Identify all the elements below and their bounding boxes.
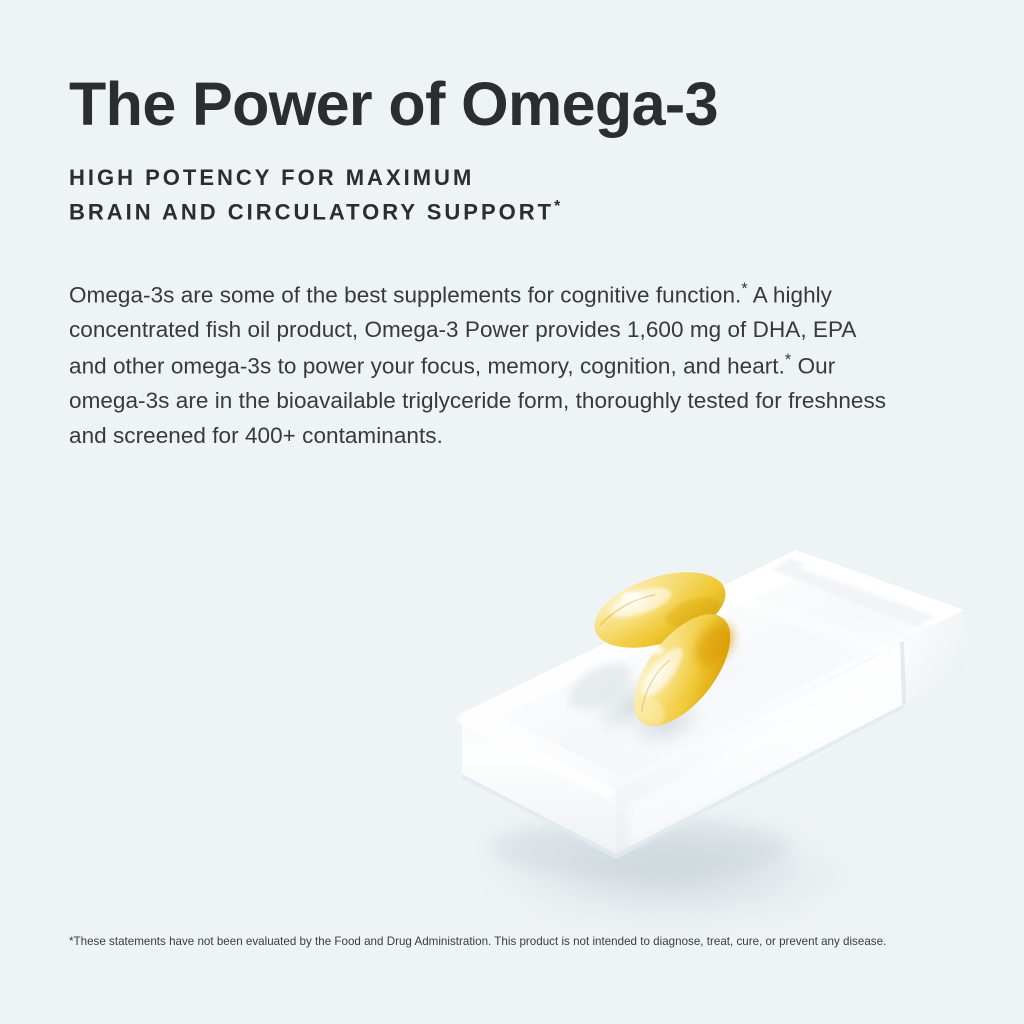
page-title: The Power of Omega-3 bbox=[69, 72, 949, 137]
acrylic-block-illustration bbox=[404, 518, 1004, 938]
subtitle: HIGH POTENCY FOR MAXIMUM BRAIN AND CIRCU… bbox=[69, 161, 949, 230]
capsule-2-specular-dot bbox=[648, 646, 664, 654]
product-info-panel: The Power of Omega-3 HIGH POTENCY FOR MA… bbox=[0, 0, 1024, 1024]
subtitle-asterisk: * bbox=[554, 198, 560, 215]
capsule-1-specular-dot bbox=[622, 592, 642, 600]
subtitle-line-1: HIGH POTENCY FOR MAXIMUM bbox=[69, 161, 949, 195]
subtitle-line-2: BRAIN AND CIRCULATORY SUPPORT* bbox=[69, 195, 949, 229]
body-text-part-1: Omega-3s are some of the best supplement… bbox=[69, 283, 741, 308]
product-image bbox=[404, 518, 1004, 938]
fda-disclaimer: *These statements have not been evaluate… bbox=[69, 933, 949, 951]
body-paragraph: Omega-3s are some of the best supplement… bbox=[69, 277, 899, 453]
copy-block: The Power of Omega-3 HIGH POTENCY FOR MA… bbox=[69, 72, 949, 453]
subtitle-line-2-text: BRAIN AND CIRCULATORY SUPPORT bbox=[69, 199, 554, 224]
